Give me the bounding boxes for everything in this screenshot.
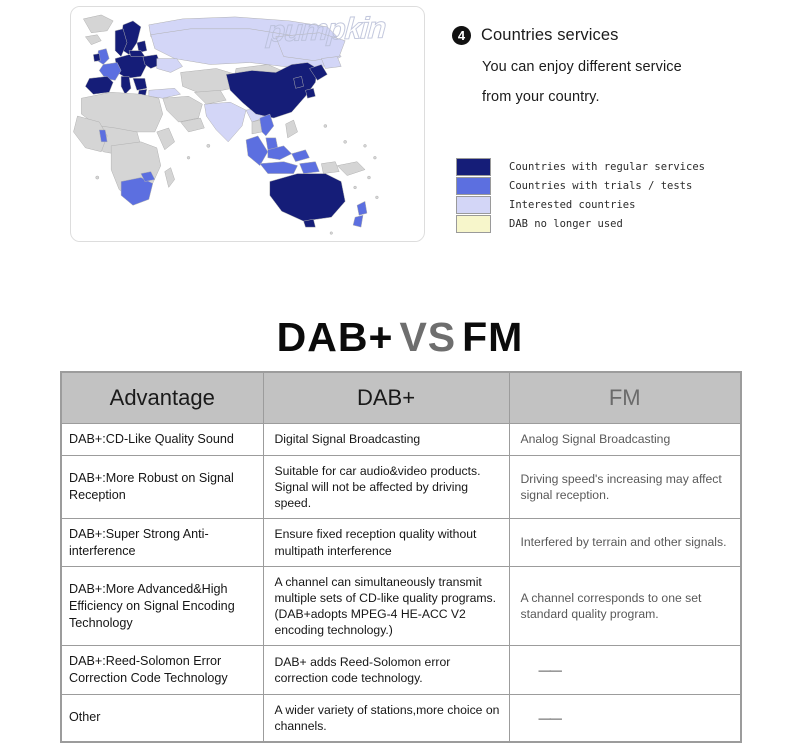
legend-label-no-longer-used: DAB no longer used bbox=[509, 218, 623, 230]
cell-fm: A channel corresponds to one set standar… bbox=[509, 567, 741, 646]
service-heading-row: 4 Countries services bbox=[452, 26, 772, 45]
cell-advantage: DAB+:Reed-Solomon Error Correction Code … bbox=[61, 646, 263, 694]
legend-item: Countries with regular services bbox=[456, 157, 756, 176]
cell-advantage: Other bbox=[61, 694, 263, 742]
legend-label-interested: Interested countries bbox=[509, 199, 635, 211]
title-dab: DAB+ bbox=[277, 314, 394, 360]
legend-swatch-interested bbox=[456, 196, 491, 214]
cell-fm: Driving speed's increasing may affect si… bbox=[509, 455, 741, 518]
legend-swatch-regular-services bbox=[456, 158, 491, 176]
cell-fm: Interfered by terrain and other signals. bbox=[509, 518, 741, 566]
service-body-line-1: You can enjoy different service bbox=[482, 59, 772, 75]
cell-dab: Suitable for car audio&video products. S… bbox=[263, 455, 509, 518]
cell-advantage: DAB+:CD-Like Quality Sound bbox=[61, 424, 263, 456]
legend-swatch-no-longer-used bbox=[456, 215, 491, 233]
table-row: DAB+:CD-Like Quality Sound Digital Signa… bbox=[61, 424, 741, 456]
legend-item: DAB no longer used bbox=[456, 214, 756, 233]
title-fm: FM bbox=[462, 314, 523, 360]
legend-swatch-trials-tests bbox=[456, 177, 491, 195]
cell-dab: A channel can simultaneously transmit mu… bbox=[263, 567, 509, 646]
table-row: DAB+:More Robust on Signal Reception Sui… bbox=[61, 455, 741, 518]
cell-dab: DAB+ adds Reed-Solomon error correction … bbox=[263, 646, 509, 694]
table-row: DAB+:Super Strong Anti-interference Ensu… bbox=[61, 518, 741, 566]
legend-item: Interested countries bbox=[456, 195, 756, 214]
service-body-line-2: from your country. bbox=[482, 89, 772, 105]
cell-advantage: DAB+:More Robust on Signal Reception bbox=[61, 455, 263, 518]
legend-label-trials-tests: Countries with trials / tests bbox=[509, 180, 692, 192]
legend-item: Countries with trials / tests bbox=[456, 176, 756, 195]
table-row: Other A wider variety of stations,more c… bbox=[61, 694, 741, 742]
column-header-dab: DAB+ bbox=[263, 372, 509, 424]
table-header-row: Advantage DAB+ FM bbox=[61, 372, 741, 424]
title-vs: VS bbox=[399, 314, 456, 360]
world-map-card: pumpkin bbox=[70, 6, 425, 242]
legend-label-regular-services: Countries with regular services bbox=[509, 161, 705, 173]
cell-dab: Ensure fixed reception quality without m… bbox=[263, 518, 509, 566]
column-header-fm: FM bbox=[509, 372, 741, 424]
cell-advantage: DAB+:More Advanced&High Efficiency on Si… bbox=[61, 567, 263, 646]
page-title: DAB+VSFM bbox=[0, 314, 800, 361]
service-description: 4 Countries services You can enjoy diffe… bbox=[452, 26, 772, 105]
cell-dab: A wider variety of stations,more choice … bbox=[263, 694, 509, 742]
cell-dab: Digital Signal Broadcasting bbox=[263, 424, 509, 456]
table-row: DAB+:More Advanced&High Efficiency on Si… bbox=[61, 567, 741, 646]
table-row: DAB+:Reed-Solomon Error Correction Code … bbox=[61, 646, 741, 694]
cell-fm: Analog Signal Broadcasting bbox=[509, 424, 741, 456]
map-legend: Countries with regular services Countrie… bbox=[456, 157, 756, 233]
column-header-advantage: Advantage bbox=[61, 372, 263, 424]
cell-advantage: DAB+:Super Strong Anti-interference bbox=[61, 518, 263, 566]
service-heading: Countries services bbox=[481, 26, 619, 45]
countries-services-section: pumpkin 4 Countries services You can enj… bbox=[0, 0, 800, 260]
step-number-badge: 4 bbox=[452, 26, 471, 45]
cell-fm: —— bbox=[509, 646, 741, 694]
world-map-icon bbox=[71, 7, 424, 241]
empty-dash: —— bbox=[521, 662, 561, 678]
dab-vs-fm-table: Advantage DAB+ FM DAB+:CD-Like Quality S… bbox=[60, 371, 742, 743]
cell-fm: —— bbox=[509, 694, 741, 742]
empty-dash: —— bbox=[521, 710, 561, 726]
